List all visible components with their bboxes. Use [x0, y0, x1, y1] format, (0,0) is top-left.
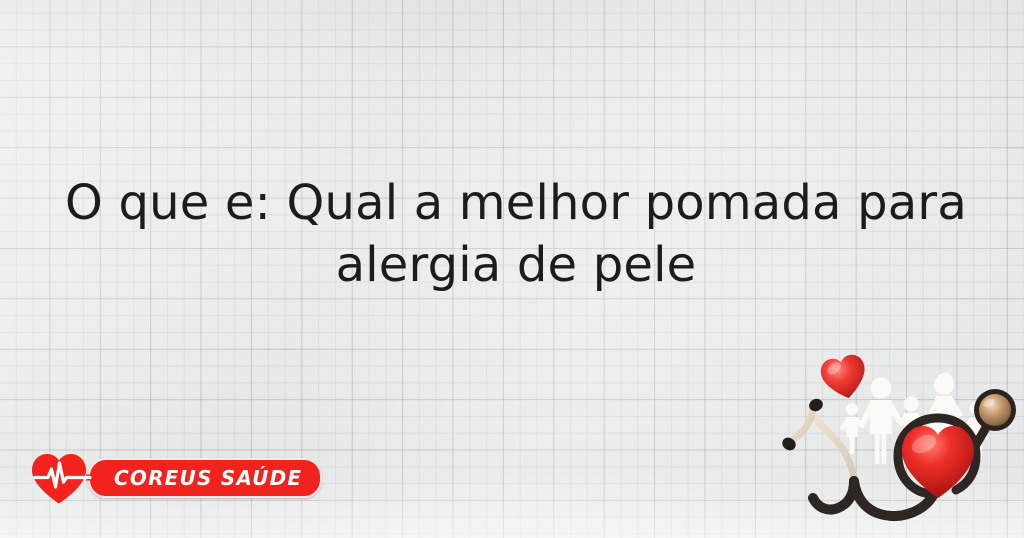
page-title: O que e: Qual a melhor pomada para alerg… — [30, 172, 1002, 296]
health-collage — [780, 348, 1024, 538]
brand-name-label: COREUS SAÚDE — [114, 468, 302, 488]
stethoscope-chestpiece-icon — [974, 389, 1016, 431]
heart-heartbeat-icon — [28, 450, 106, 506]
small-heart-icon — [818, 352, 870, 402]
brand-logo: COREUS SAÚDE — [28, 450, 322, 506]
poster-canvas: O que e: Qual a melhor pomada para alerg… — [0, 0, 1024, 538]
brand-name-badge: COREUS SAÚDE — [88, 458, 322, 498]
